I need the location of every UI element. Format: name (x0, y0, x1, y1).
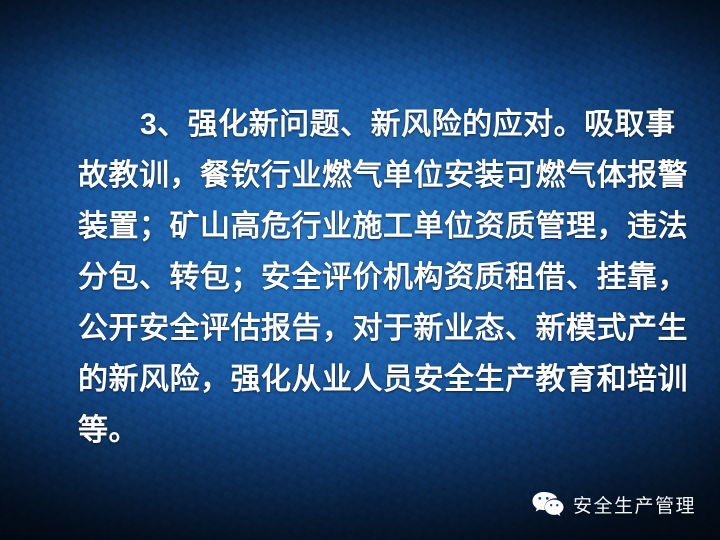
wechat-watermark: 安全生产管理 (524, 485, 706, 524)
slide-body-text: 3、强化新问题、新风险的应对。吸取事 故教训，餐钦行业燃气单位安装可燃气体报警 … (78, 99, 658, 456)
body-line-2: 故教训，餐钦行业燃气单位安装可燃气体报警 (78, 150, 658, 201)
body-line-6: 的新风险，强化从业人员安全生产教育和培训 (78, 354, 658, 405)
body-line-3: 装置；矿山高危行业施工单位资质管理，违法 (78, 201, 658, 252)
presentation-slide: 3、强化新问题、新风险的应对。吸取事 故教训，餐钦行业燃气单位安装可燃气体报警 … (0, 0, 720, 540)
body-line-7: 等。 (78, 405, 658, 456)
wechat-icon (532, 491, 564, 518)
watermark-label: 安全生产管理 (573, 491, 696, 518)
body-line-1: 3、强化新问题、新风险的应对。吸取事 (78, 99, 658, 150)
body-line-4: 分包、转包；安全评价机构资质租借、挂靠， (78, 252, 658, 303)
body-line-5: 公开安全评估报告，对于新业态、新模式产生 (78, 303, 658, 354)
